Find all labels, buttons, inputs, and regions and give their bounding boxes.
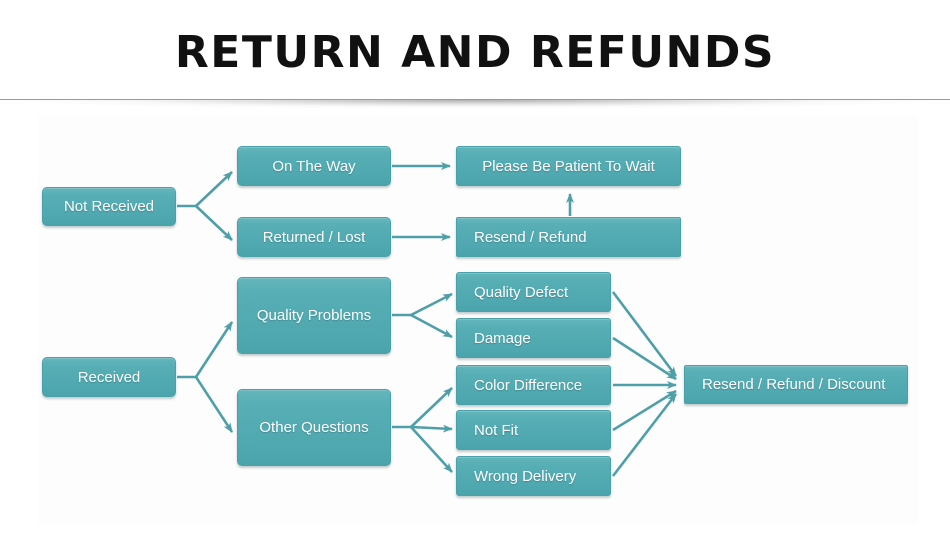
node-label: Quality Defect: [474, 284, 568, 301]
node-label: Received: [78, 369, 141, 386]
node-label: Wrong Delivery: [474, 468, 576, 485]
node-label: Other Questions: [259, 419, 368, 436]
node-label: Resend / Refund: [474, 229, 587, 246]
node-not-fit[interactable]: Not Fit: [456, 410, 611, 450]
node-label: Resend / Refund / Discount: [702, 376, 885, 393]
node-resend-refund-discount[interactable]: Resend / Refund / Discount: [684, 365, 908, 404]
node-received[interactable]: Received: [42, 357, 176, 397]
node-other-questions[interactable]: Other Questions: [237, 389, 391, 466]
node-label: Please Be Patient To Wait: [482, 158, 655, 175]
node-damage[interactable]: Damage: [456, 318, 611, 358]
node-resend-refund[interactable]: Resend / Refund: [456, 217, 681, 257]
page-title: RETURN AND REFUNDS: [0, 27, 950, 78]
node-label: Color Difference: [474, 377, 582, 394]
node-label: Quality Problems: [257, 307, 371, 324]
node-label: Not Fit: [474, 422, 518, 439]
node-please-be-patient-to-wait[interactable]: Please Be Patient To Wait: [456, 146, 681, 186]
node-quality-defect[interactable]: Quality Defect: [456, 272, 611, 312]
node-returned-lost[interactable]: Returned / Lost: [237, 217, 391, 257]
node-quality-problems[interactable]: Quality Problems: [237, 277, 391, 354]
node-on-the-way[interactable]: On The Way: [237, 146, 391, 186]
header-divider-shadow: [0, 100, 950, 109]
node-label: On The Way: [272, 158, 355, 175]
node-label: Not Received: [64, 198, 154, 215]
node-color-difference[interactable]: Color Difference: [456, 365, 611, 405]
node-label: Returned / Lost: [263, 229, 366, 246]
node-wrong-delivery[interactable]: Wrong Delivery: [456, 456, 611, 496]
node-label: Damage: [474, 330, 531, 347]
slide-canvas: RETURN AND REFUNDS: [0, 0, 950, 535]
node-not-received[interactable]: Not Received: [42, 187, 176, 226]
